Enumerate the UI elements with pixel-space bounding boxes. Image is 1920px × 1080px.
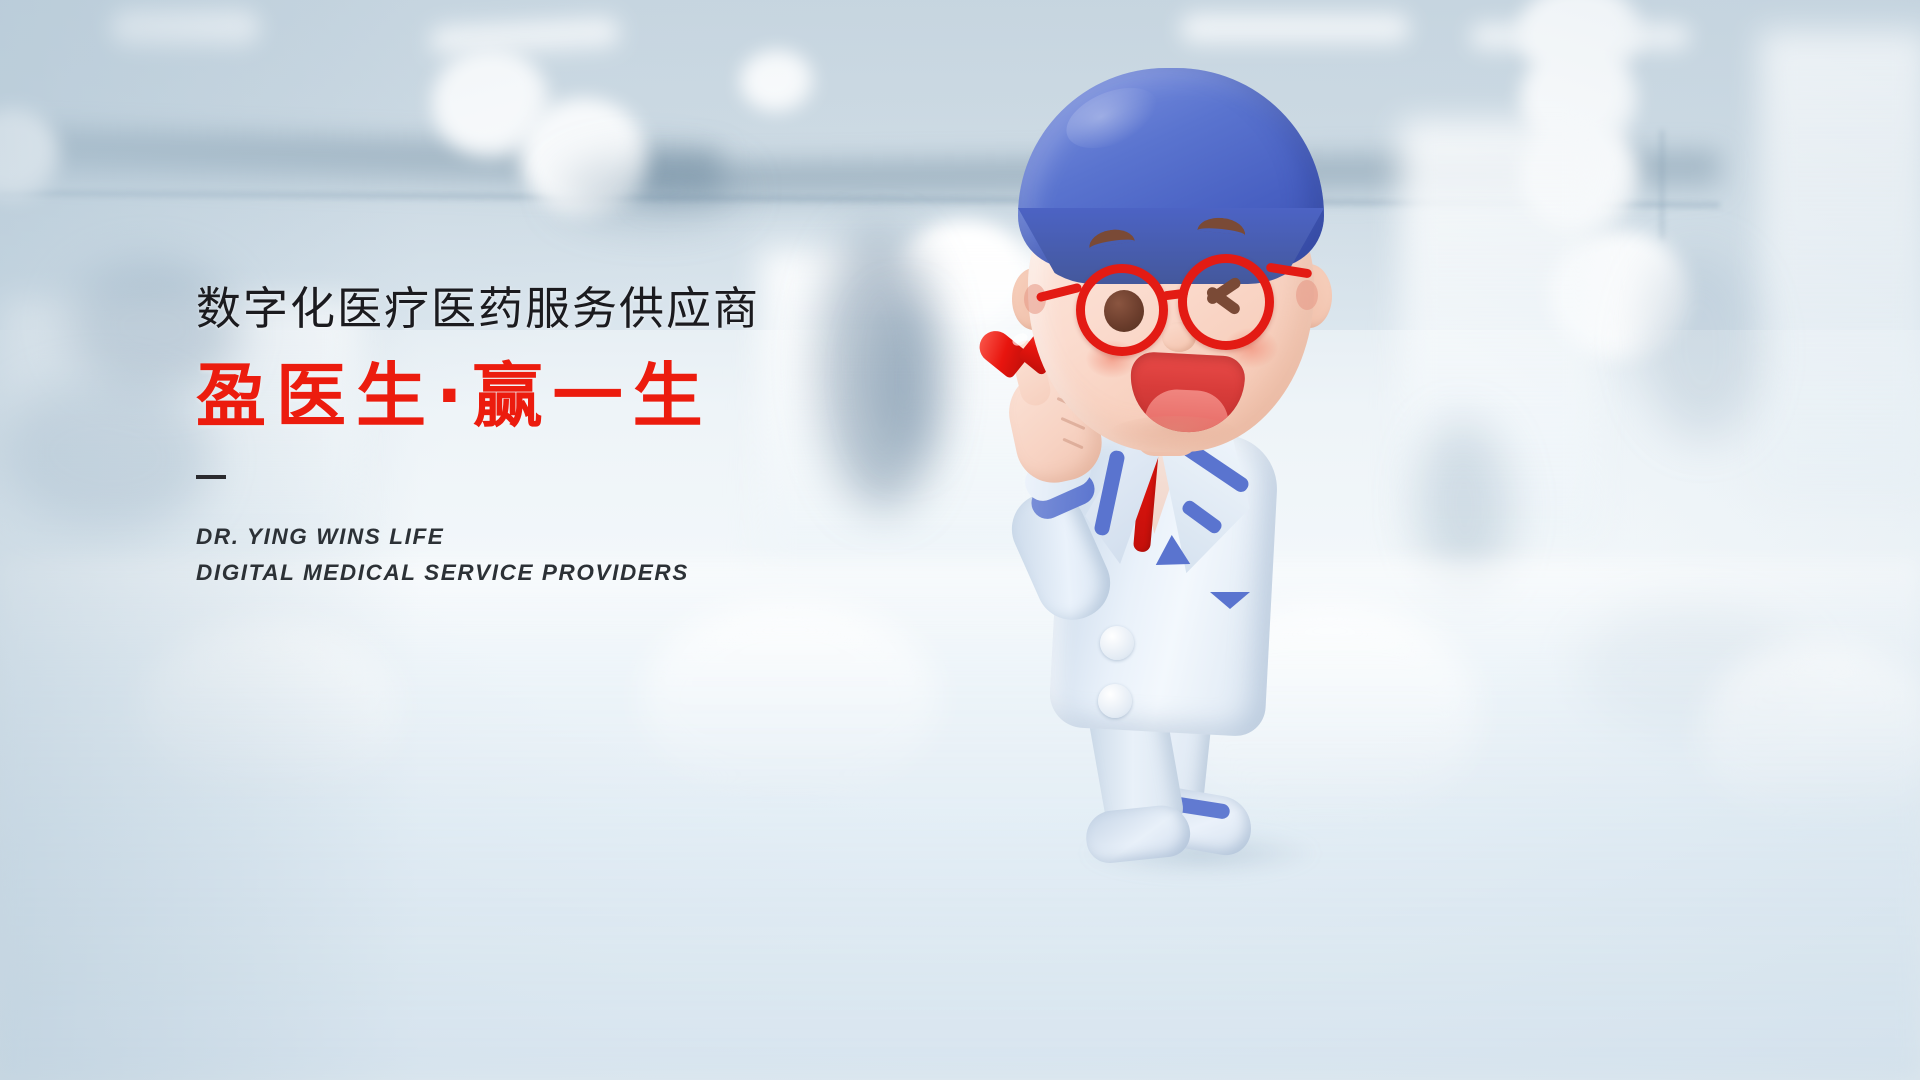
doctor-mascot-illustration: [990, 40, 1410, 870]
divider-rule: [196, 475, 226, 479]
hero-banner: 数字化医疗医药服务供应商 盈医生·赢一生 DR. YING WINS LIFE …: [0, 0, 1920, 1080]
hero-subtitle-cn: 数字化医疗医药服务供应商: [196, 286, 1026, 331]
hero-copy-block: 数字化医疗医药服务供应商 盈医生·赢一生 DR. YING WINS LIFE …: [196, 286, 1026, 591]
mascot-coat-button: [1100, 626, 1134, 660]
mascot-coat-arrow: [1210, 592, 1250, 609]
glasses-lens-left: [1076, 264, 1168, 356]
hero-headline-cn: 盈医生·赢一生: [196, 361, 1026, 431]
mascot-chin-shading: [1110, 416, 1238, 450]
glasses-lens-right: [1178, 254, 1274, 350]
hero-tagline-en-line2: DIGITAL MEDICAL SERVICE PROVIDERS: [196, 555, 1026, 591]
mascot-ear-inner-right: [1296, 280, 1318, 310]
hero-tagline-en-line1: DR. YING WINS LIFE: [196, 519, 1026, 555]
mascot-coat-button: [1098, 684, 1132, 718]
